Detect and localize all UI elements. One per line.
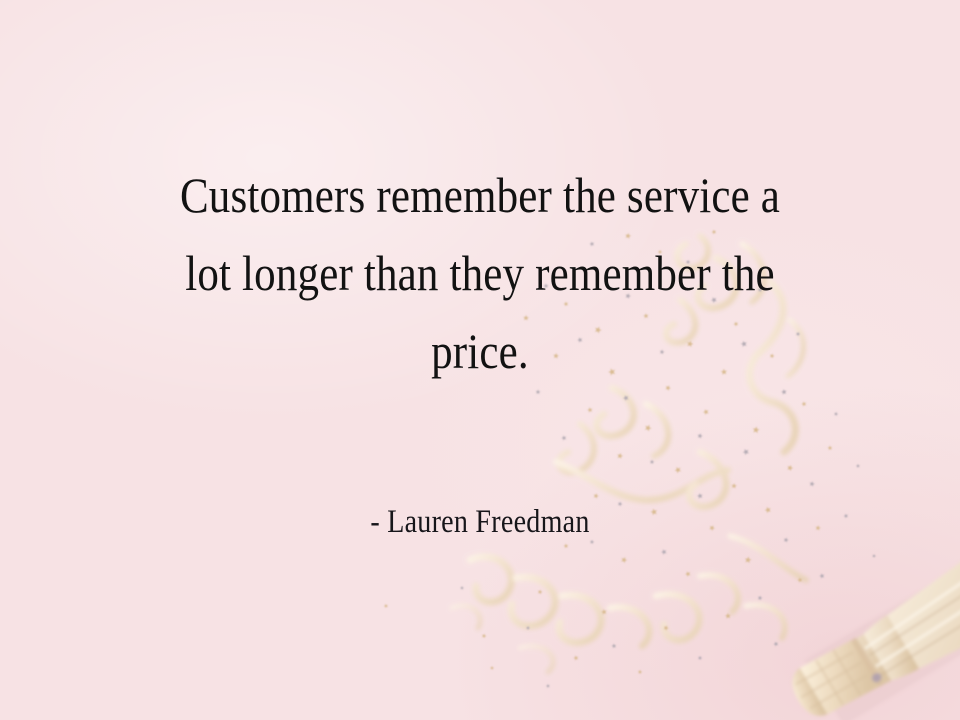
champagne-bottle xyxy=(777,518,960,720)
quote-text-block: Customers remember the service a lot lon… xyxy=(0,156,960,390)
quote-line-1: Customers remember the service a xyxy=(67,156,893,234)
quote-card: Customers remember the service a lot lon… xyxy=(0,0,960,720)
quote-line-2: lot longer than they remember the xyxy=(67,234,893,312)
quote-attribution: - Lauren Freedman xyxy=(72,500,888,544)
quote-line-3: price. xyxy=(67,312,893,390)
